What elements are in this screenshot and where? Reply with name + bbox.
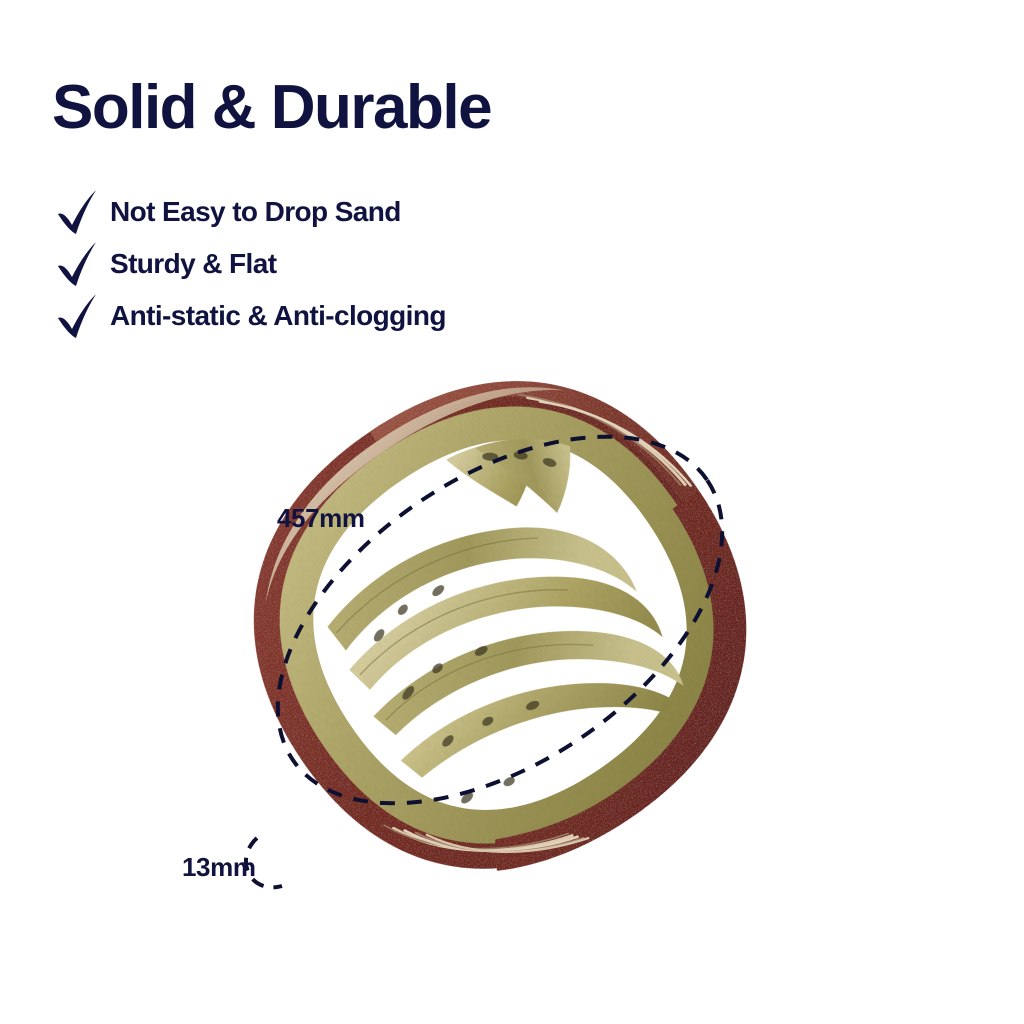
feature-item-label: Sturdy & Flat [110,245,276,283]
belt-width-label: 13mm [182,852,256,883]
check-icon [54,239,102,291]
feature-list: Not Easy to Drop Sand Sturdy & Flat Anti… [54,193,674,349]
belt-length-label: 457mm [277,503,365,534]
feature-item-1: Sturdy & Flat [54,245,674,297]
feature-item-label: Not Easy to Drop Sand [110,193,401,231]
page-title: Solid & Durable [52,75,491,140]
check-icon [54,291,102,343]
check-icon [54,187,102,239]
product-image [180,330,820,920]
infographic-canvas: Solid & Durable Not Easy to Drop Sand St… [0,0,1024,1024]
sanding-belt-illustration [180,330,820,920]
feature-item-0: Not Easy to Drop Sand [54,193,674,245]
